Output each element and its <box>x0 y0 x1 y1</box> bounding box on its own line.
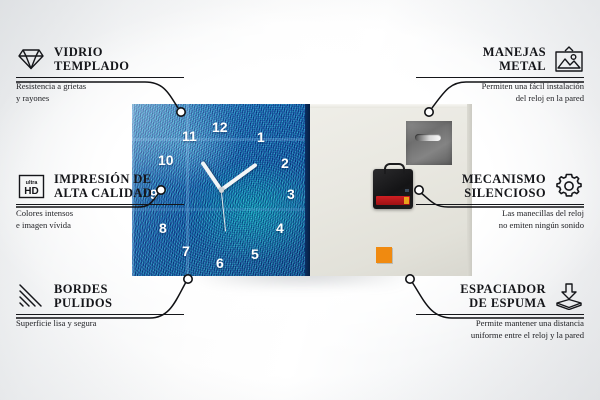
mechanism-strap <box>384 163 405 174</box>
foam-spacer <box>376 247 392 263</box>
feature-heading: MANEJASMETAL <box>416 44 584 74</box>
ultra-hd-icon: ultra HD <box>16 171 46 201</box>
feature-subtitle: Permiten una fácil instalacióndel reloj … <box>416 81 584 103</box>
feature-heading: VIDRIOTEMPLADO <box>16 44 184 74</box>
clock-number-2: 2 <box>281 156 289 170</box>
feature-subtitle: Las manecillas del relojno emiten ningún… <box>416 208 584 230</box>
feature-divider <box>16 204 184 205</box>
metal-hanger-plate <box>406 121 452 165</box>
feature-divider <box>416 314 584 315</box>
feature-title: IMPRESIÓN DEALTA CALIDAD <box>54 172 152 201</box>
feature-bordes-pulidos: BORDESPULIDOS Superficie lisa y segura <box>16 281 184 330</box>
feature-divider <box>16 77 184 78</box>
polished-edges-icon <box>16 281 46 311</box>
clock-number-11: 11 <box>182 129 197 143</box>
feature-title: MECANISMOSILENCIOSO <box>462 172 546 201</box>
feature-divider <box>16 314 184 315</box>
feature-heading: BORDESPULIDOS <box>16 281 184 311</box>
feature-heading: ultra HD IMPRESIÓN DEALTA CALIDAD <box>16 171 184 201</box>
clock-number-6: 6 <box>216 256 224 270</box>
feature-subtitle: Colores intensose imagen vívida <box>16 208 184 230</box>
feature-subtitle: Permite mantener una distanciauniforme e… <box>416 318 584 340</box>
feature-subtitle: Resistencia a grietasy rayones <box>16 81 184 103</box>
feature-manejas-metal: MANEJASMETAL Permiten una fácil instalac… <box>416 44 584 104</box>
feature-subtitle: Superficie lisa y segura <box>16 318 184 329</box>
feature-divider <box>416 204 584 205</box>
feature-title: ESPACIADORDE ESPUMA <box>460 282 546 311</box>
clock-number-5: 5 <box>251 247 259 261</box>
clock-number-3: 3 <box>287 187 295 201</box>
battery <box>376 196 410 205</box>
hanger-keyhole-slot <box>415 134 441 141</box>
foam-spacer-icon <box>554 281 584 311</box>
clock-number-1: 1 <box>257 130 265 144</box>
feature-impresion-alta-calidad: ultra HD IMPRESIÓN DEALTA CALIDAD Colore… <box>16 171 184 231</box>
clock-mechanism <box>373 169 413 209</box>
clock-number-12: 12 <box>212 120 228 134</box>
clock-number-4: 4 <box>276 221 284 235</box>
feature-espaciador-espuma: ESPACIADORDE ESPUMA Permite mantener una… <box>416 281 584 341</box>
clock-pivot <box>219 188 224 193</box>
clock-number-7: 7 <box>182 244 190 258</box>
feature-title: BORDESPULIDOS <box>54 282 112 311</box>
picture-frame-icon <box>554 44 584 74</box>
feature-heading: ESPACIADORDE ESPUMA <box>416 281 584 311</box>
back-panel-top-edge <box>310 104 472 108</box>
mechanism-detail <box>405 189 409 192</box>
svg-text:HD: HD <box>24 186 38 197</box>
feature-heading: MECANISMOSILENCIOSO <box>416 171 584 201</box>
feature-mecanismo-silencioso: MECANISMOSILENCIOSO Las manecillas del r… <box>416 171 584 231</box>
diamond-icon <box>16 44 46 74</box>
gear-icon <box>554 171 584 201</box>
feature-title: VIDRIOTEMPLADO <box>54 45 129 74</box>
feature-title: MANEJASMETAL <box>483 45 546 74</box>
feature-divider <box>416 77 584 78</box>
feature-vidrio-templado: VIDRIOTEMPLADO Resistencia a grietasy ra… <box>16 44 184 104</box>
battery-terminal <box>404 197 409 204</box>
infographic-canvas: 12 1 2 3 4 5 6 7 8 9 10 11 <box>0 0 600 400</box>
clock-number-10: 10 <box>158 153 174 167</box>
